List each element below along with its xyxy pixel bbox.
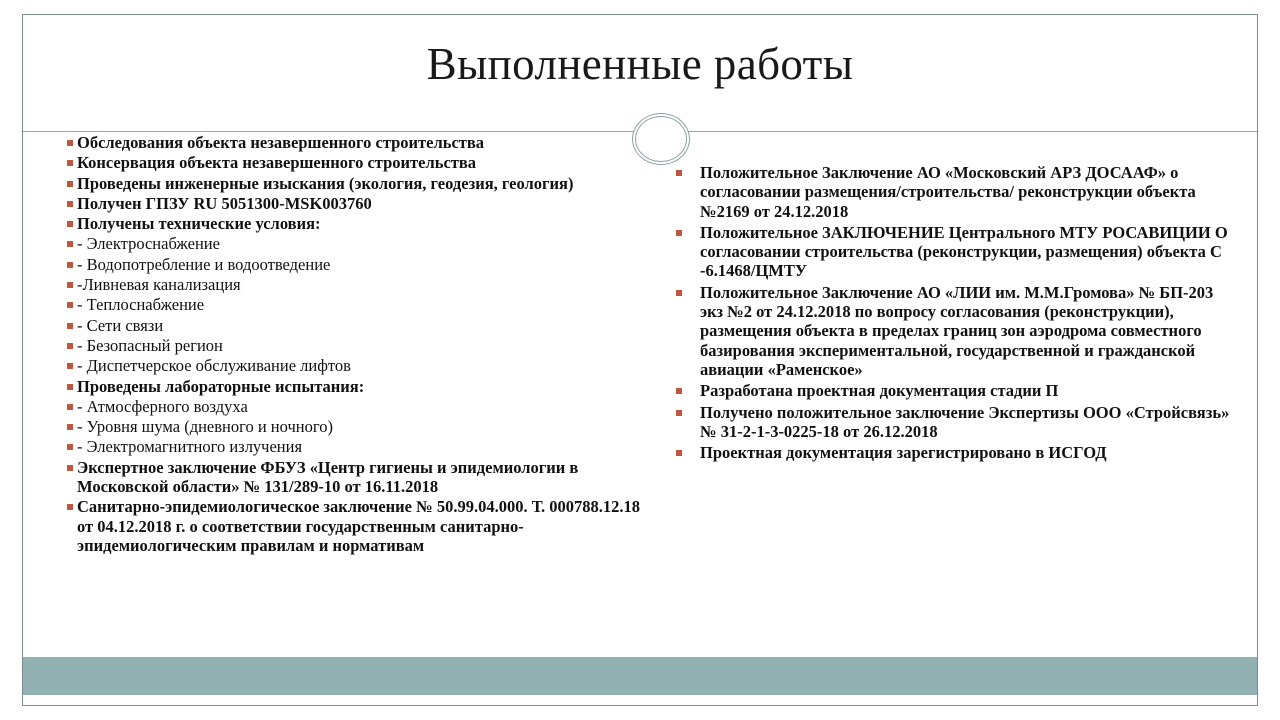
bullet-square-icon xyxy=(67,201,73,207)
list-item: Санитарно-эпидемиологическое заключение … xyxy=(41,497,641,555)
bullet-square-icon xyxy=(67,282,73,288)
bullet-square-icon xyxy=(67,444,73,450)
right-column: Положительное Заключение АО «Московский … xyxy=(648,133,1233,464)
footer-accent-bar xyxy=(23,657,1257,695)
bullet-square-icon xyxy=(67,181,73,187)
list-item: - Уровня шума (дневного и ночного) xyxy=(41,417,641,436)
bullet-square-icon xyxy=(676,410,682,416)
list-item: Положительное Заключение АО «Московский … xyxy=(648,163,1233,221)
bullet-square-icon xyxy=(67,140,73,146)
bullet-square-icon xyxy=(676,230,682,236)
list-item: - Теплоснабжение xyxy=(41,295,641,314)
list-item-text: Положительное ЗАКЛЮЧЕНИЕ Центрального МТ… xyxy=(700,223,1228,281)
list-item-text: - Водопотребление и водоотведение xyxy=(77,255,330,274)
list-item-text: - Сети связи xyxy=(77,316,163,335)
list-item-text: - Атмосферного воздуха xyxy=(77,397,248,416)
list-item-text: Получено положительное заключение Экспер… xyxy=(700,403,1229,441)
list-item-text: - Электромагнитного излучения xyxy=(77,437,302,456)
bullet-square-icon xyxy=(67,404,73,410)
bullet-square-icon xyxy=(676,450,682,456)
list-item: Проведены инженерные изыскания (экология… xyxy=(41,174,641,193)
list-item-text: Проведены инженерные изыскания (экология… xyxy=(77,174,573,193)
slide-frame: Выполненные работы Обследования объекта … xyxy=(22,14,1258,706)
list-item: - Безопасный регион xyxy=(41,336,641,355)
list-item: - Водопотребление и водоотведение xyxy=(41,255,641,274)
left-column: Обследования объекта незавершенного стро… xyxy=(41,133,641,556)
list-item: Экспертное заключение ФБУЗ «Центр гигиен… xyxy=(41,458,641,497)
bullet-square-icon xyxy=(676,170,682,176)
list-item: Получено положительное заключение Экспер… xyxy=(648,403,1233,442)
list-item: Обследования объекта незавершенного стро… xyxy=(41,133,641,152)
bullet-square-icon xyxy=(67,384,73,390)
list-item: Положительное ЗАКЛЮЧЕНИЕ Центрального МТ… xyxy=(648,223,1233,281)
list-item-text: - Теплоснабжение xyxy=(77,295,204,314)
bullet-square-icon xyxy=(67,504,73,510)
list-item-text: Обследования объекта незавершенного стро… xyxy=(77,133,484,152)
bullet-square-icon xyxy=(67,160,73,166)
bullet-square-icon xyxy=(67,262,73,268)
list-item: Консервация объекта незавершенного строи… xyxy=(41,153,641,172)
list-item: - Электромагнитного излучения xyxy=(41,437,641,456)
bullet-square-icon xyxy=(67,302,73,308)
list-item-text: Проектная документация зарегистрировано … xyxy=(700,443,1107,462)
list-item-text: Положительное Заключение АО «ЛИИ им. М.М… xyxy=(700,283,1213,379)
list-item-text: Проведены лабораторные испытания: xyxy=(77,377,364,396)
bullet-square-icon xyxy=(67,323,73,329)
list-item: - Диспетчерское обслуживание лифтов xyxy=(41,356,641,375)
list-item-text: Санитарно-эпидемиологическое заключение … xyxy=(77,497,640,555)
bullet-square-icon xyxy=(67,465,73,471)
list-item-text: - Уровня шума (дневного и ночного) xyxy=(77,417,333,436)
bullet-square-icon xyxy=(67,424,73,430)
list-item-text: Получен ГПЗУ RU 5051300-MSK003760 xyxy=(77,194,372,213)
list-item: Положительное Заключение АО «ЛИИ им. М.М… xyxy=(648,283,1233,379)
list-item: Проектная документация зарегистрировано … xyxy=(648,443,1233,462)
right-bullet-list: Положительное Заключение АО «Московский … xyxy=(648,163,1233,462)
left-bullet-list: Обследования объекта незавершенного стро… xyxy=(41,133,641,555)
bullet-square-icon xyxy=(676,290,682,296)
list-item-text: Разработана проектная документация стади… xyxy=(700,381,1058,400)
slide-content: Обследования объекта незавершенного стро… xyxy=(23,133,1257,663)
bullet-square-icon xyxy=(67,221,73,227)
list-item: - Сети связи xyxy=(41,316,641,335)
list-item-text: - Электроснабжение xyxy=(77,234,220,253)
list-item-text: - Безопасный регион xyxy=(77,336,223,355)
bullet-square-icon xyxy=(676,388,682,394)
bullet-square-icon xyxy=(67,343,73,349)
list-item-text: Консервация объекта незавершенного строи… xyxy=(77,153,476,172)
list-item: Получены технические условия: xyxy=(41,214,641,233)
list-item: - Атмосферного воздуха xyxy=(41,397,641,416)
list-item: -Ливневая канализация xyxy=(41,275,641,294)
list-item-text: - Диспетчерское обслуживание лифтов xyxy=(77,356,351,375)
bullet-square-icon xyxy=(67,363,73,369)
list-item: Проведены лабораторные испытания: xyxy=(41,377,641,396)
list-item: Разработана проектная документация стади… xyxy=(648,381,1233,400)
bullet-square-icon xyxy=(67,241,73,247)
list-item-text: Положительное Заключение АО «Московский … xyxy=(700,163,1196,221)
list-item-text: Экспертное заключение ФБУЗ «Центр гигиен… xyxy=(77,458,578,496)
list-item: - Электроснабжение xyxy=(41,234,641,253)
list-item-text: -Ливневая канализация xyxy=(77,275,241,294)
page-title: Выполненные работы xyxy=(23,40,1257,90)
list-item-text: Получены технические условия: xyxy=(77,214,321,233)
list-item: Получен ГПЗУ RU 5051300-MSK003760 xyxy=(41,194,641,213)
